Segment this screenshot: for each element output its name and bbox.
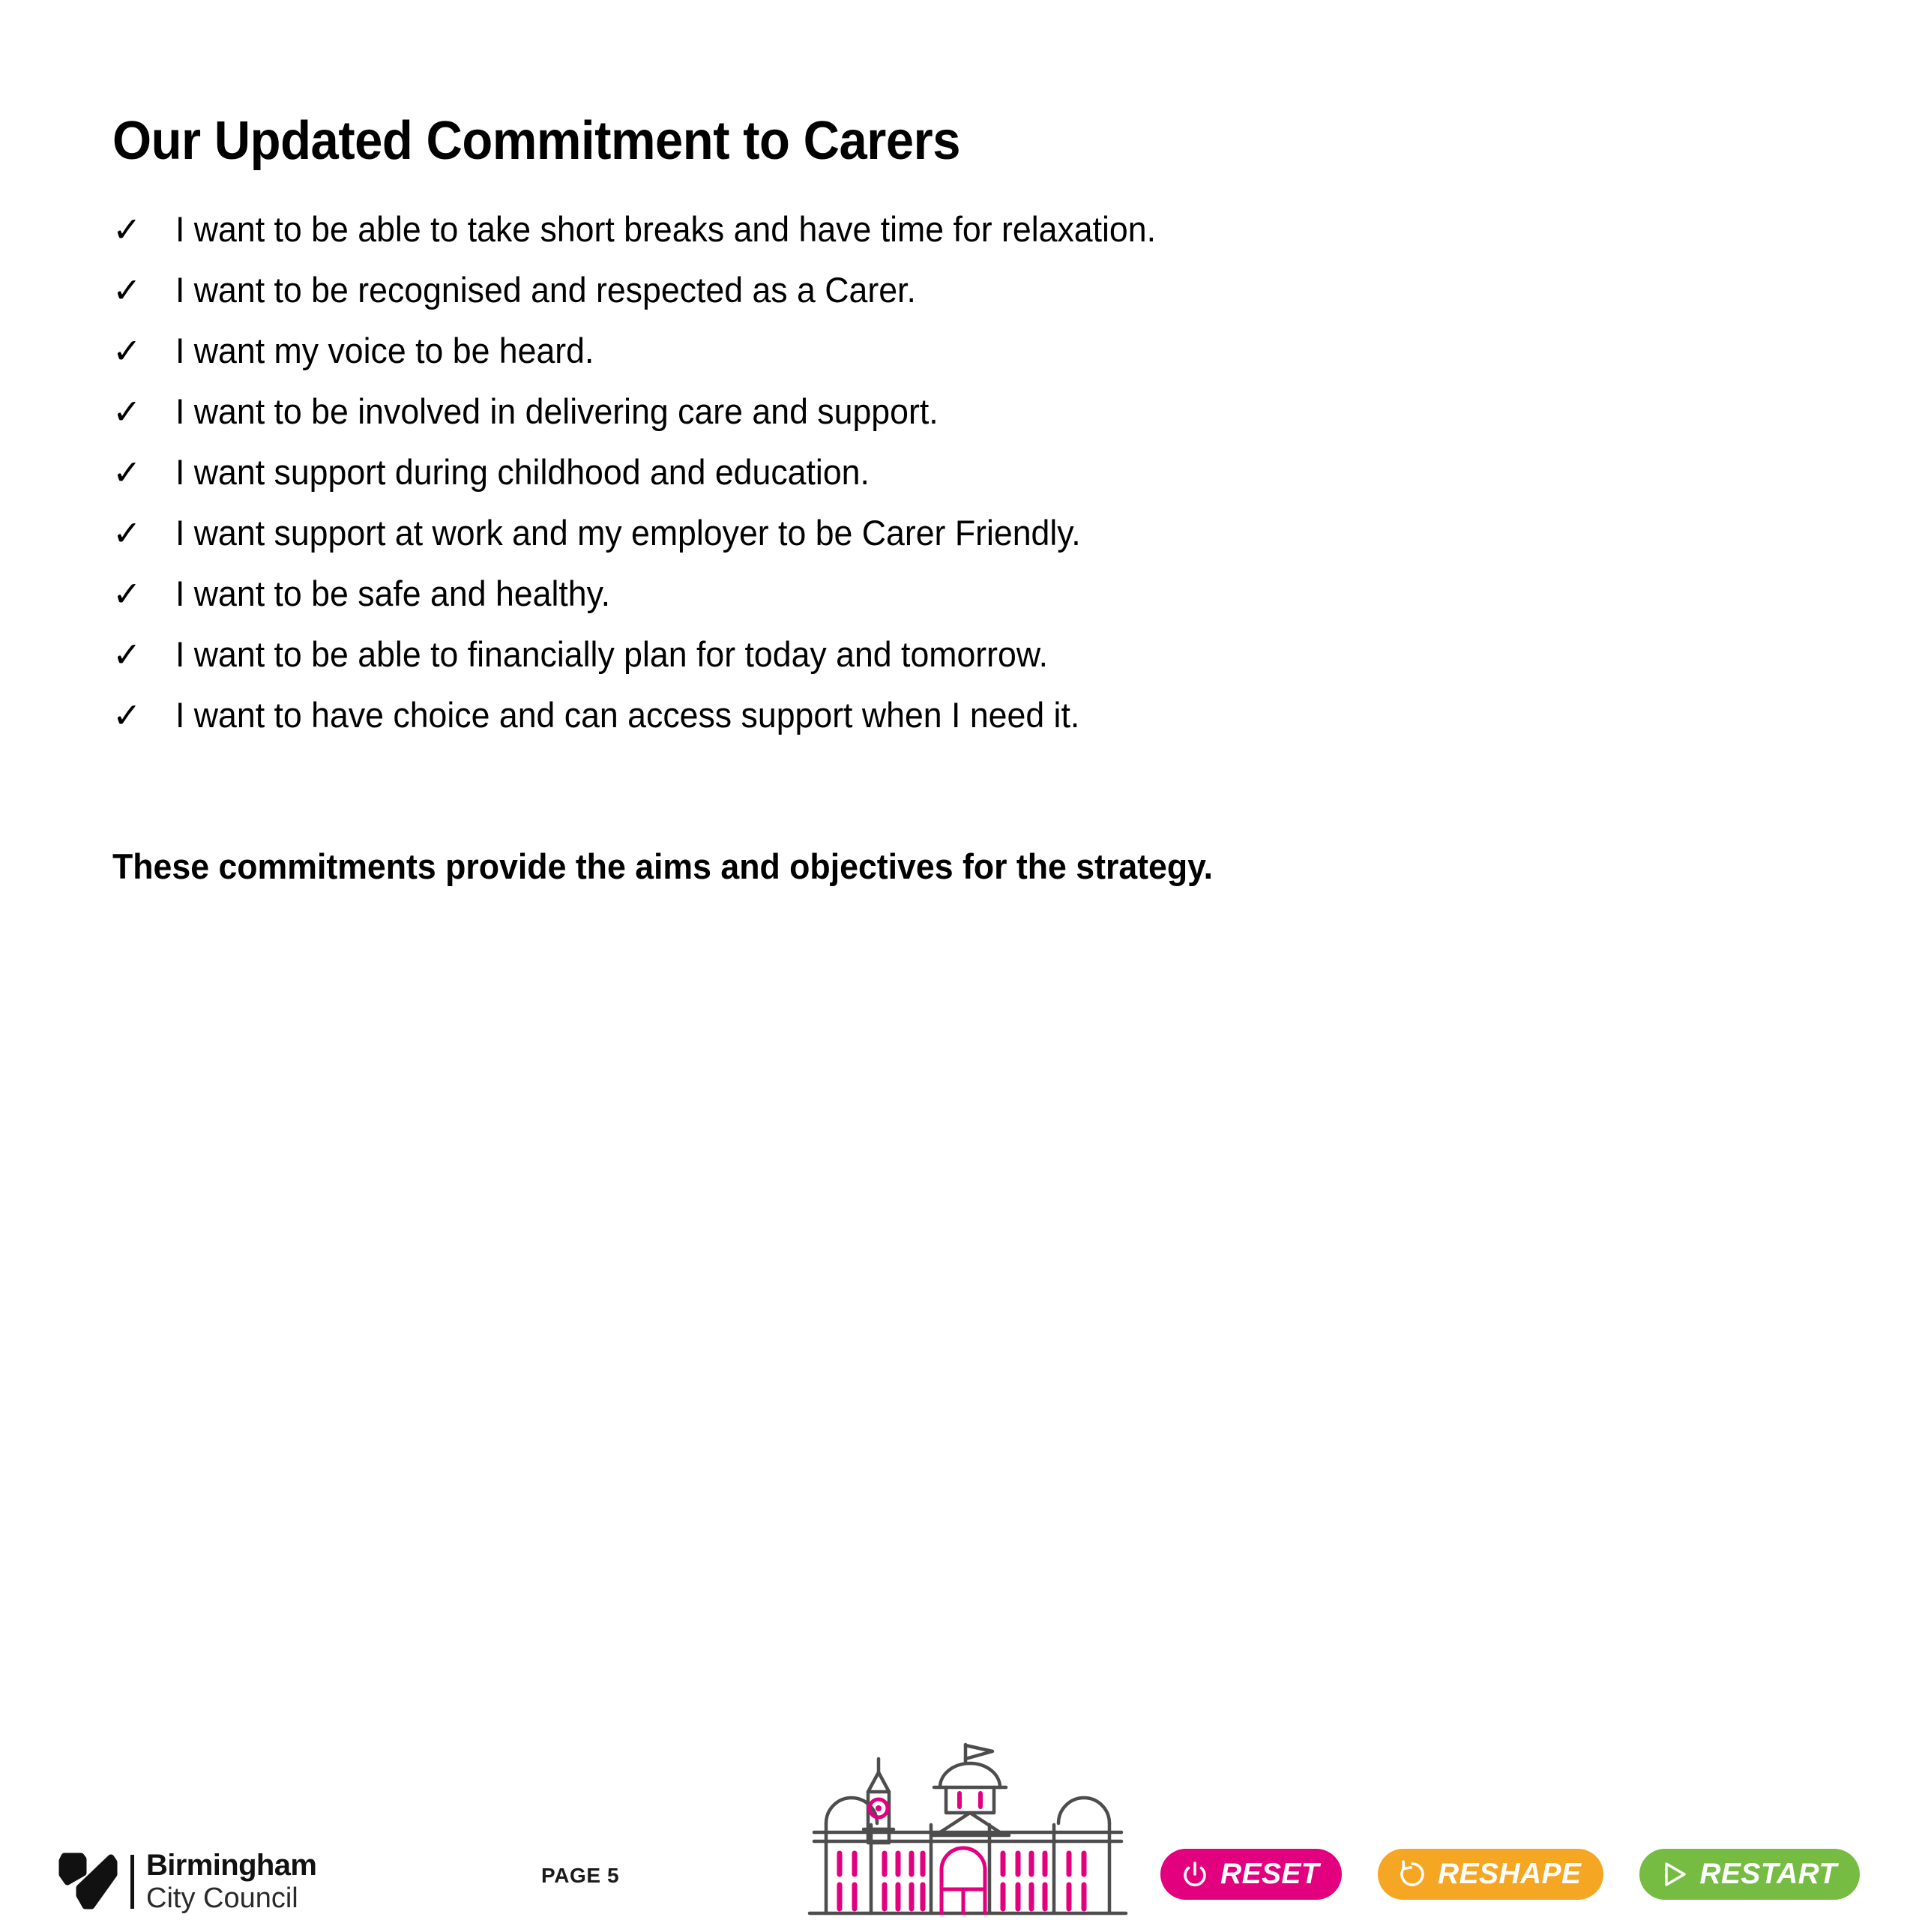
page-number: PAGE 5 (541, 1864, 619, 1888)
reset-button[interactable]: RESET (1160, 1849, 1342, 1900)
list-item-label: I want to have choice and can access sup… (175, 697, 1079, 732)
commitments-list: ✓ I want to be able to take short breaks… (112, 211, 1762, 758)
check-icon: ✓ (112, 273, 175, 307)
birmingham-heart-icon (58, 1852, 120, 1912)
power-icon (1180, 1859, 1210, 1889)
logo-divider (130, 1855, 134, 1909)
page-title: Our Updated Commitment to Carers (112, 113, 960, 170)
slide-canvas: Our Updated Commitment to Carers ✓ I wan… (0, 0, 1919, 1080)
logo-line-birmingham: Birmingham (146, 1850, 316, 1880)
refresh-icon (1397, 1859, 1427, 1889)
list-item-label: I want support at work and my employer t… (175, 515, 1081, 550)
list-item: ✓ I want my voice to be heard. (112, 333, 1762, 394)
list-item-label: I want to be able to financially plan fo… (175, 637, 1048, 672)
list-item: ✓ I want to be safe and healthy. (112, 576, 1762, 637)
list-item: ✓ I want to have choice and can access s… (112, 697, 1762, 758)
list-item-label: I want support during childhood and educ… (175, 454, 870, 490)
restart-button[interactable]: RESTART (1639, 1849, 1859, 1900)
check-icon: ✓ (112, 394, 175, 429)
list-item: ✓ I want support at work and my employer… (112, 515, 1762, 576)
list-item-label: I want to be safe and healthy. (175, 576, 610, 611)
check-icon: ✓ (112, 516, 175, 550)
check-icon: ✓ (112, 637, 175, 672)
list-item: ✓ I want to be involved in delivering ca… (112, 394, 1762, 454)
check-icon: ✓ (112, 455, 175, 490)
reset-button-label: RESET (1220, 1859, 1319, 1889)
list-item: ✓ I want to be able to take short breaks… (112, 211, 1762, 272)
check-icon: ✓ (112, 698, 175, 732)
reshape-button[interactable]: RESHAPE (1378, 1849, 1603, 1900)
reshape-button-label: RESHAPE (1438, 1859, 1581, 1889)
restart-button-label: RESTART (1699, 1859, 1837, 1889)
check-icon: ✓ (112, 577, 175, 611)
birmingham-city-council-logo: Birmingham City Council (58, 1850, 316, 1913)
list-item: ✓ I want to be able to financially plan … (112, 637, 1762, 697)
birmingham-council-house-icon (807, 1741, 1129, 1928)
play-icon (1659, 1859, 1689, 1889)
check-icon: ✓ (112, 212, 175, 247)
list-item: ✓ I want support during childhood and ed… (112, 454, 1762, 515)
list-item-label: I want to be recognised and respected as… (175, 272, 916, 307)
list-item-label: I want my voice to be heard. (175, 333, 594, 368)
footer: Birmingham City Council PAGE 5 (0, 855, 1919, 1080)
list-item-label: I want to be involved in delivering care… (175, 394, 939, 429)
list-item: ✓ I want to be recognised and respected … (112, 272, 1762, 333)
action-buttons: RESET RESHAPE RESTART (1160, 1849, 1860, 1900)
list-item-label: I want to be able to take short breaks a… (175, 211, 1156, 247)
logo-line-city-council: City Council (146, 1884, 316, 1913)
check-icon: ✓ (112, 334, 175, 368)
logo-wordmark: Birmingham City Council (146, 1850, 316, 1913)
